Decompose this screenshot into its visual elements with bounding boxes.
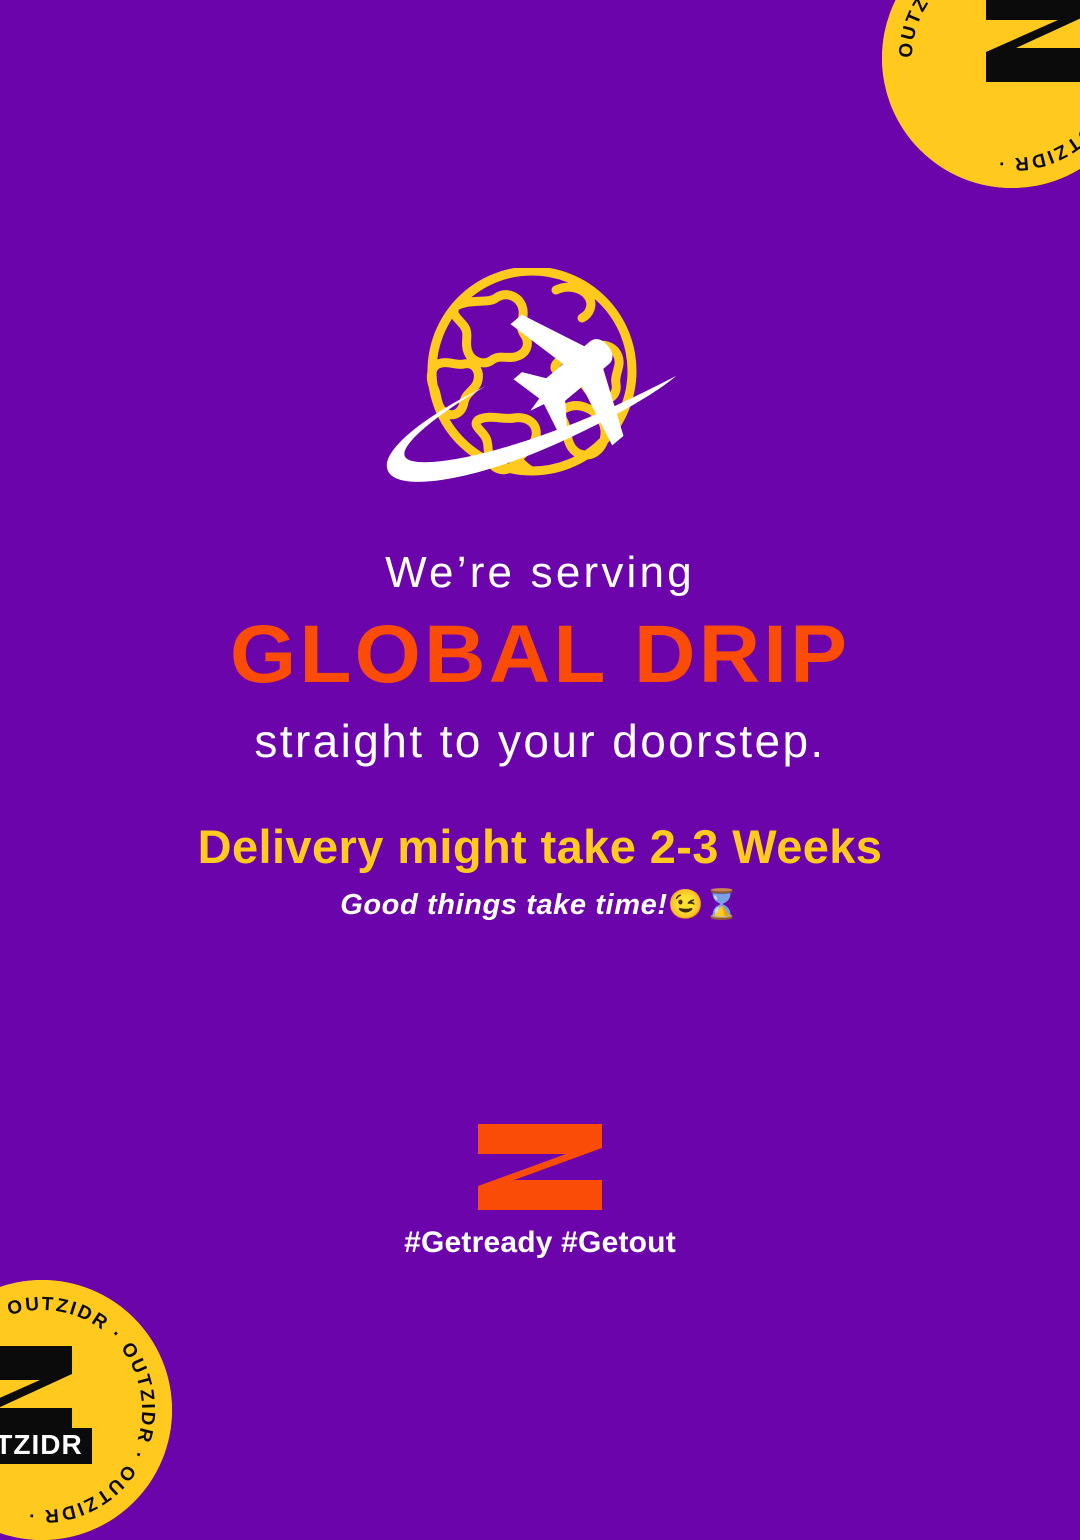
headline-tail: straight to your doorstep. (0, 716, 1080, 767)
outzidr-badge-bottom-left: OUTZIDR · OUTZIDR · OUTZIDR · OUTZIDR · … (0, 1280, 172, 1540)
footer-block: #Getready #Getout (0, 1124, 1080, 1260)
headline-lead: We’re serving (0, 548, 1080, 597)
badge-wordmark: OUTZIDR (0, 1429, 83, 1460)
delivery-subnote-emoji: 😉⌛ (668, 889, 740, 921)
delivery-subnote-text: Good things take time! (340, 889, 667, 921)
headline-block: We’re serving GLOBAL DRIP straight to yo… (0, 548, 1080, 767)
outzidr-badge-top-right: OUTZIDR · OUTZIDR · OUTZIDR · OUTZIDR · (882, 0, 1080, 188)
brand-hashtags: #Getready #Getout (0, 1226, 1080, 1260)
delivery-block: Delivery might take 2-3 Weeks Good thing… (0, 820, 1080, 922)
badge-wordmark-plate: OUTZIDR (0, 1428, 92, 1464)
delivery-subnote: Good things take time!😉⌛ (0, 888, 1080, 922)
poster-canvas: OUTZIDR · OUTZIDR · OUTZIDR · OUTZIDR · … (0, 0, 1080, 1440)
globe-airplane-icon (360, 268, 720, 504)
delivery-headline: Delivery might take 2-3 Weeks (0, 820, 1080, 874)
headline-main: GLOBAL DRIP (0, 607, 1080, 704)
outzidr-z-logo (478, 1124, 602, 1210)
